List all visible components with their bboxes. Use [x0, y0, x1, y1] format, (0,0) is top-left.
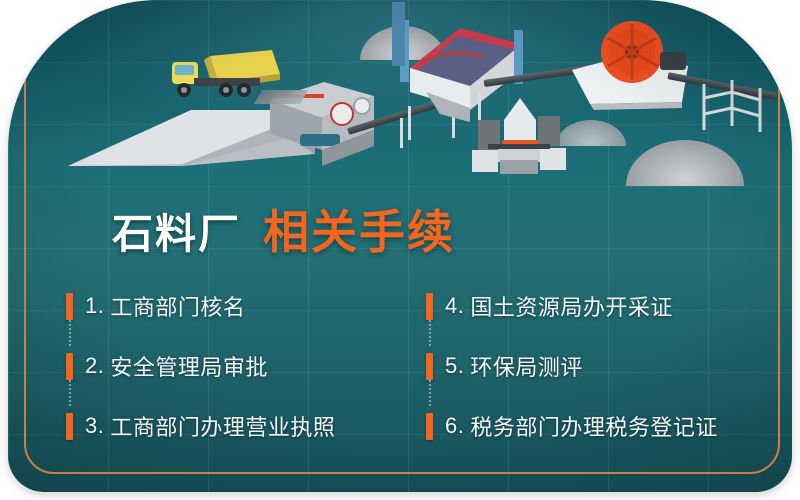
decorative-frame-inner: [33, 0, 767, 462]
banner-stage: 石料厂 相关手续 1. 工商部门核名 4. 国土资源局办开采证 2. 安全管理局…: [0, 0, 800, 500]
banner-card: 石料厂 相关手续 1. 工商部门核名 4. 国土资源局办开采证 2. 安全管理局…: [8, 0, 792, 492]
